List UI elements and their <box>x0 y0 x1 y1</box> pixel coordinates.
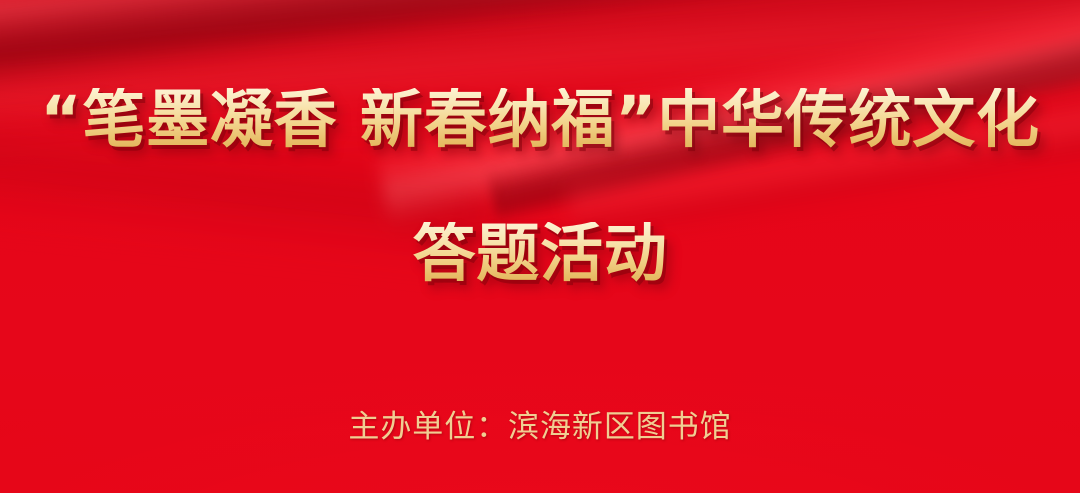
poster-organizer-label: 主办单位：滨海新区图书馆 <box>0 408 1080 447</box>
poster-title-line-1: “笔墨凝香 新春纳福”中华传统文化 <box>0 88 1080 151</box>
poster-content: “笔墨凝香 新春纳福”中华传统文化 答题活动 主办单位：滨海新区图书馆 <box>0 0 1080 493</box>
poster-banner: “笔墨凝香 新春纳福”中华传统文化 答题活动 主办单位：滨海新区图书馆 <box>0 0 1080 493</box>
poster-title-line-2: 答题活动 <box>0 222 1080 285</box>
